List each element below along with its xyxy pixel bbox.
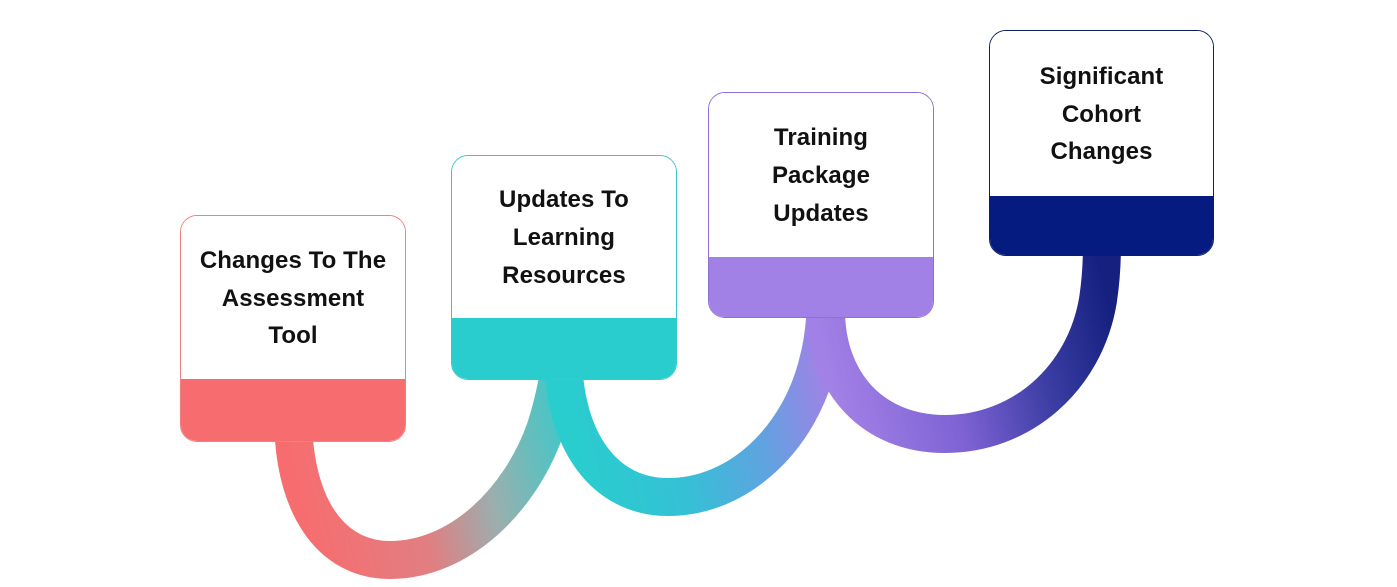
flow-node-training-package-updates[interactable]: Training Package Updates <box>708 92 934 318</box>
flow-node-accent-bar <box>709 257 933 317</box>
flow-node-label: Training Package Updates <box>772 119 870 233</box>
flow-node-significant-cohort-changes[interactable]: Significant Cohort Changes <box>989 30 1214 256</box>
flow-node-accent-bar <box>181 379 405 441</box>
flow-node-changes-to-the-assessment-tool[interactable]: Changes To The Assessment Tool <box>180 215 406 442</box>
flow-node-label: Updates To Learning Resources <box>499 181 629 295</box>
flow-node-head: Updates To Learning Resources <box>452 156 676 318</box>
diagram-canvas: Changes To The Assessment Tool Updates T… <box>0 0 1397 587</box>
flow-node-accent-bar <box>452 318 676 379</box>
flow-node-label: Changes To The Assessment Tool <box>200 242 386 356</box>
flow-node-label: Significant Cohort Changes <box>1040 58 1164 172</box>
flow-node-accent-bar <box>990 196 1213 255</box>
flow-node-updates-to-learning-resources[interactable]: Updates To Learning Resources <box>451 155 677 380</box>
flow-node-head: Significant Cohort Changes <box>990 31 1213 196</box>
flow-node-head: Training Package Updates <box>709 93 933 257</box>
flow-node-head: Changes To The Assessment Tool <box>181 216 405 379</box>
